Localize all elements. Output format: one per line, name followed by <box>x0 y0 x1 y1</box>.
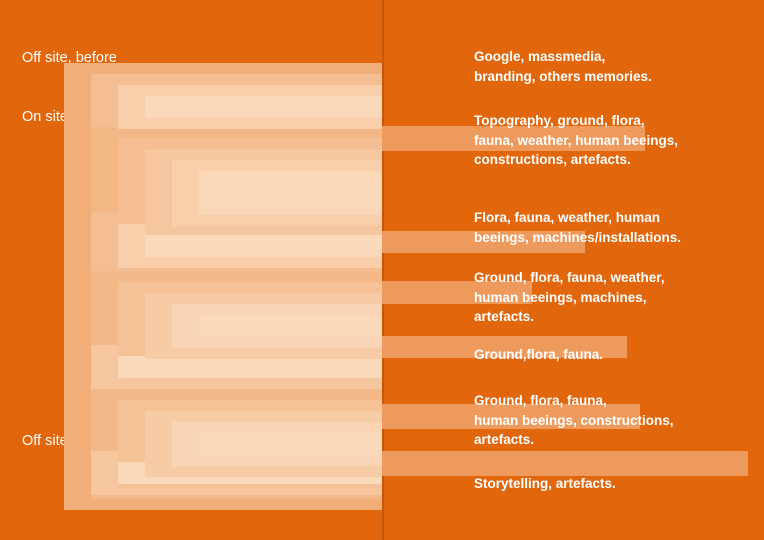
infographic-canvas: ImaginationGoogle, massmedia, branding, … <box>0 0 764 540</box>
description-taste: Ground,flora, fauna. <box>474 345 603 365</box>
description-feeling: Ground, flora, fauna, human beeings, con… <box>474 391 674 450</box>
description-sound: Flora, fauna, weather, human beeings, ma… <box>474 208 681 247</box>
band-imagination-3 <box>145 96 382 118</box>
band-smell-5 <box>199 315 382 337</box>
description-smell: Ground, flora, fauna, weather, human bee… <box>474 268 665 327</box>
description-sight: Topography, ground, flora, fauna, weathe… <box>474 111 678 170</box>
description-imagination: Google, massmedia, branding, others memo… <box>474 47 652 86</box>
band-feeling-5 <box>199 433 382 455</box>
band-sight-6 <box>226 182 382 204</box>
right-bar-memories <box>382 451 748 476</box>
band-taste-2 <box>118 356 382 378</box>
band-sound-3 <box>145 235 382 257</box>
description-memories: Storytelling, artefacts. <box>474 474 616 494</box>
